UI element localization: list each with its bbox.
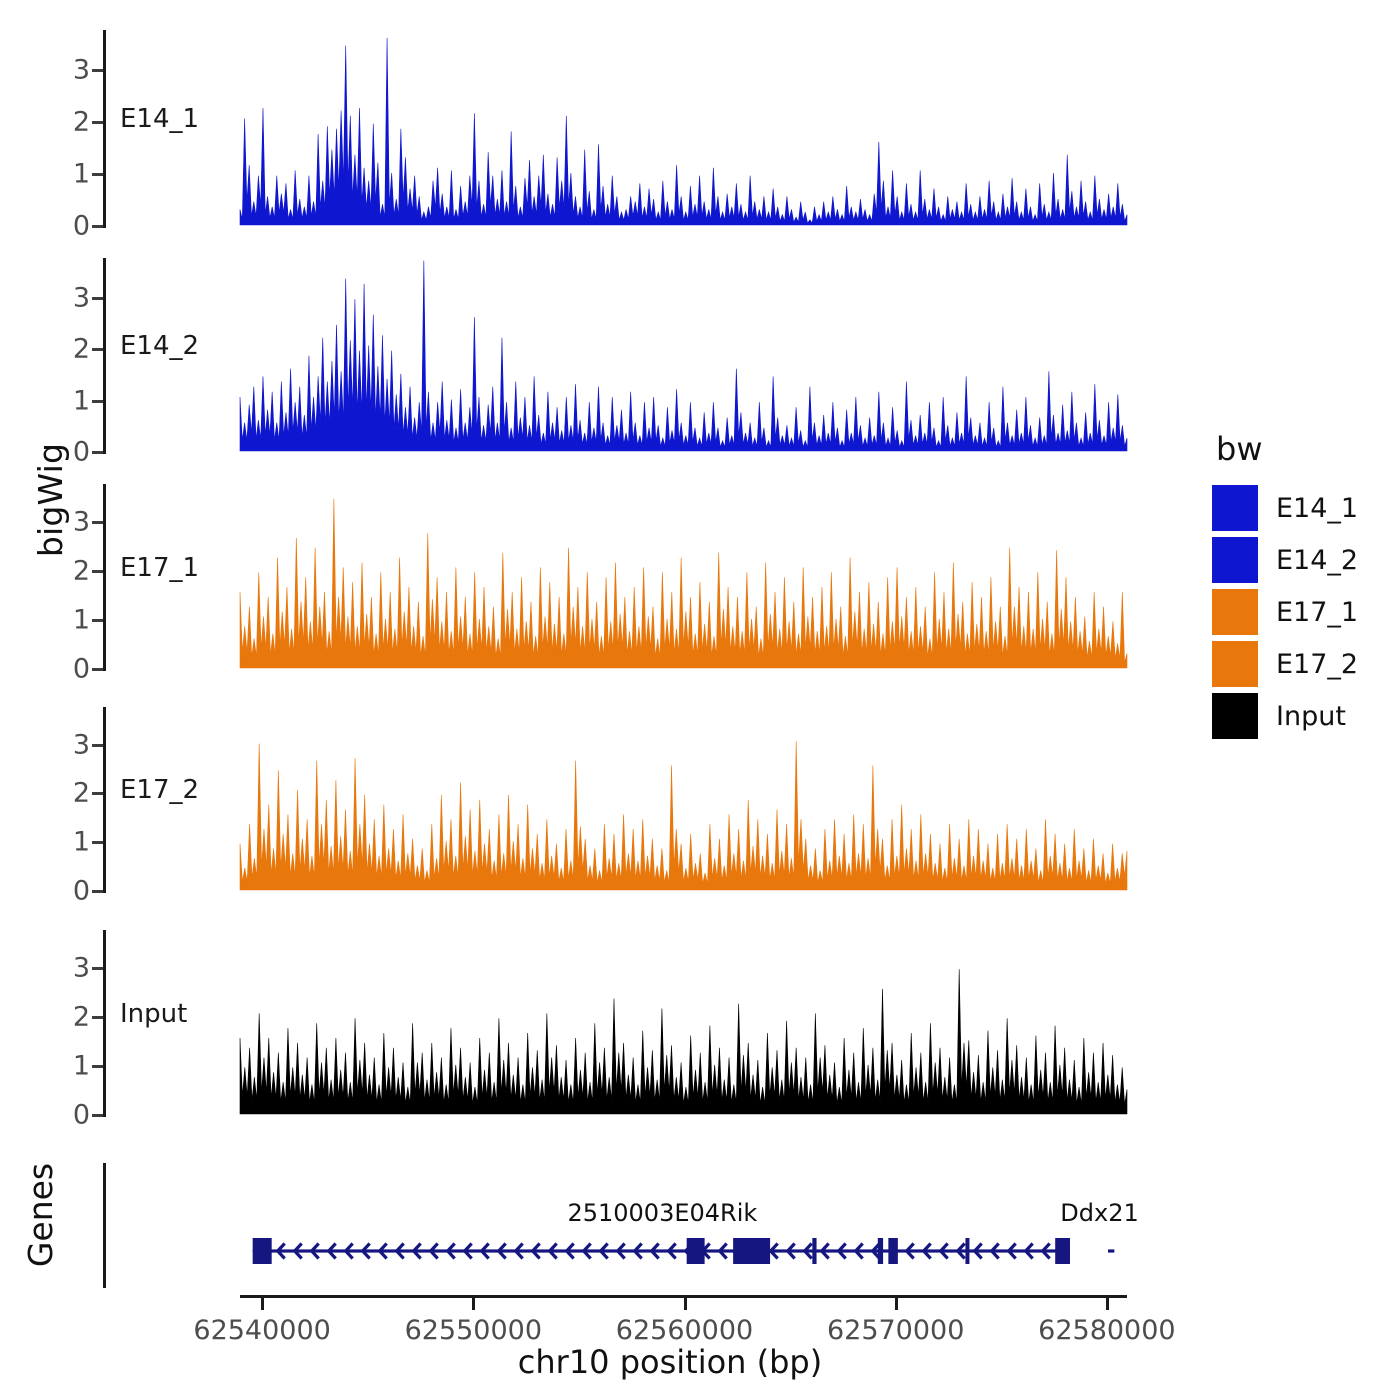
y-tick [92,967,103,970]
genes-panel: 2510003E04RikDdx21 [103,1163,1127,1288]
coverage-track-e17_1 [240,484,1127,671]
y-tick-label: 3 [73,506,90,537]
y-tick-label: 1 [73,827,90,858]
y-tick-label: 0 [73,876,90,907]
x-tick [684,1298,687,1310]
y-tick [92,619,103,622]
legend-label: E17_1 [1276,597,1358,628]
y-tick-label: 1 [73,1050,90,1081]
y-axis-spine [103,930,106,1117]
y-tick [92,521,103,524]
y-axis-spine [103,258,106,454]
legend-item-input[interactable]: Input [1212,690,1392,742]
y-tick [92,1065,103,1068]
legend-item-e17_2[interactable]: E17_2 [1212,638,1392,690]
y-tick-label: 2 [73,107,90,138]
coverage-track-input [240,930,1127,1117]
x-tick [1106,1298,1109,1310]
y-tick [92,1016,103,1019]
coverage-panel-e14_1: 0123E14_1 [103,30,1127,228]
y-tick-label: 1 [73,604,90,635]
y-tick [92,297,103,300]
y-axis-spine [103,30,106,228]
legend-label: E14_2 [1276,545,1358,576]
x-tick-label: 62560000 [616,1315,753,1346]
y-tick-label: 1 [73,159,90,190]
y-tick-label: 2 [73,778,90,809]
legend-item-e14_2[interactable]: E14_2 [1212,534,1392,586]
coverage-panel-e17_2: 0123E17_2 [103,707,1127,893]
legend-item-e14_1[interactable]: E14_1 [1212,482,1392,534]
y-tick [92,570,103,573]
y-tick [92,225,103,228]
y-tick-label: 3 [73,282,90,313]
y-tick [92,841,103,844]
y-tick-label: 0 [73,211,90,242]
legend-swatch [1212,485,1258,531]
legend-item-e17_1[interactable]: E17_1 [1212,586,1392,638]
x-tick [895,1298,898,1310]
x-tick-label: 62580000 [1038,1315,1175,1346]
y-tick-label: 0 [73,437,90,468]
y-tick-label: 0 [73,654,90,685]
legend-label: E14_1 [1276,493,1358,524]
legend-items: E14_1E14_2E17_1E17_2Input [1212,482,1392,742]
y-tick [92,890,103,893]
coverage-panel-input: 0123Input [103,930,1127,1117]
y-tick [92,69,103,72]
x-tick-label: 62540000 [193,1315,330,1346]
y-tick-label: 0 [73,1100,90,1131]
y-tick [92,792,103,795]
y-tick-label: 2 [73,1001,90,1032]
coverage-plot-figure: bigWig Genes chr10 position (bp) 0123E14… [0,0,1400,1400]
coverage-track-e14_1 [240,30,1127,228]
y-tick [92,348,103,351]
y-tick-label: 2 [73,555,90,586]
genes-axis-spine [103,1163,106,1288]
y-tick-label: 3 [73,952,90,983]
legend-swatch [1212,693,1258,739]
genes-axis-title: Genes [10,1115,70,1315]
legend: bw E14_1E14_2E17_1E17_2Input [1212,430,1392,742]
x-tick-label: 62570000 [827,1315,964,1346]
coverage-panel-e14_2: 0123E14_2 [103,258,1127,454]
legend-swatch [1212,589,1258,635]
x-tick [472,1298,475,1310]
coverage-panel-e17_1: 0123E17_1 [103,484,1127,671]
gene-label: 2510003E04Rik [567,1199,757,1227]
y-tick [92,400,103,403]
y-tick [92,451,103,454]
panel-label-e14_1: E14_1 [120,104,199,134]
y-tick [92,744,103,747]
coverage-track-e17_2 [240,707,1127,893]
y-tick [92,121,103,124]
panel-label-e14_2: E14_2 [120,331,199,361]
legend-swatch [1212,537,1258,583]
y-tick-label: 2 [73,334,90,365]
y-tick-label: 3 [73,729,90,760]
y-tick [92,173,103,176]
panel-label-input: Input [120,999,187,1029]
y-axis-spine [103,707,106,893]
y-tick [92,1114,103,1117]
x-tick [261,1298,264,1310]
coverage-track-e14_2 [240,258,1127,454]
x-tick-label: 62550000 [405,1315,542,1346]
y-axis-title: bigWig [20,390,80,610]
legend-swatch [1212,641,1258,687]
y-tick [92,668,103,671]
panel-label-e17_1: E17_1 [120,553,199,583]
y-axis-spine [103,484,106,671]
y-tick-label: 3 [73,55,90,86]
panel-label-e17_2: E17_2 [120,775,199,805]
legend-title: bw [1216,430,1392,468]
legend-label: Input [1276,701,1346,732]
y-tick-label: 1 [73,385,90,416]
legend-label: E17_2 [1276,649,1358,680]
gene-label: Ddx21 [1060,1199,1138,1227]
x-axis-title: chr10 position (bp) [150,1340,1190,1384]
